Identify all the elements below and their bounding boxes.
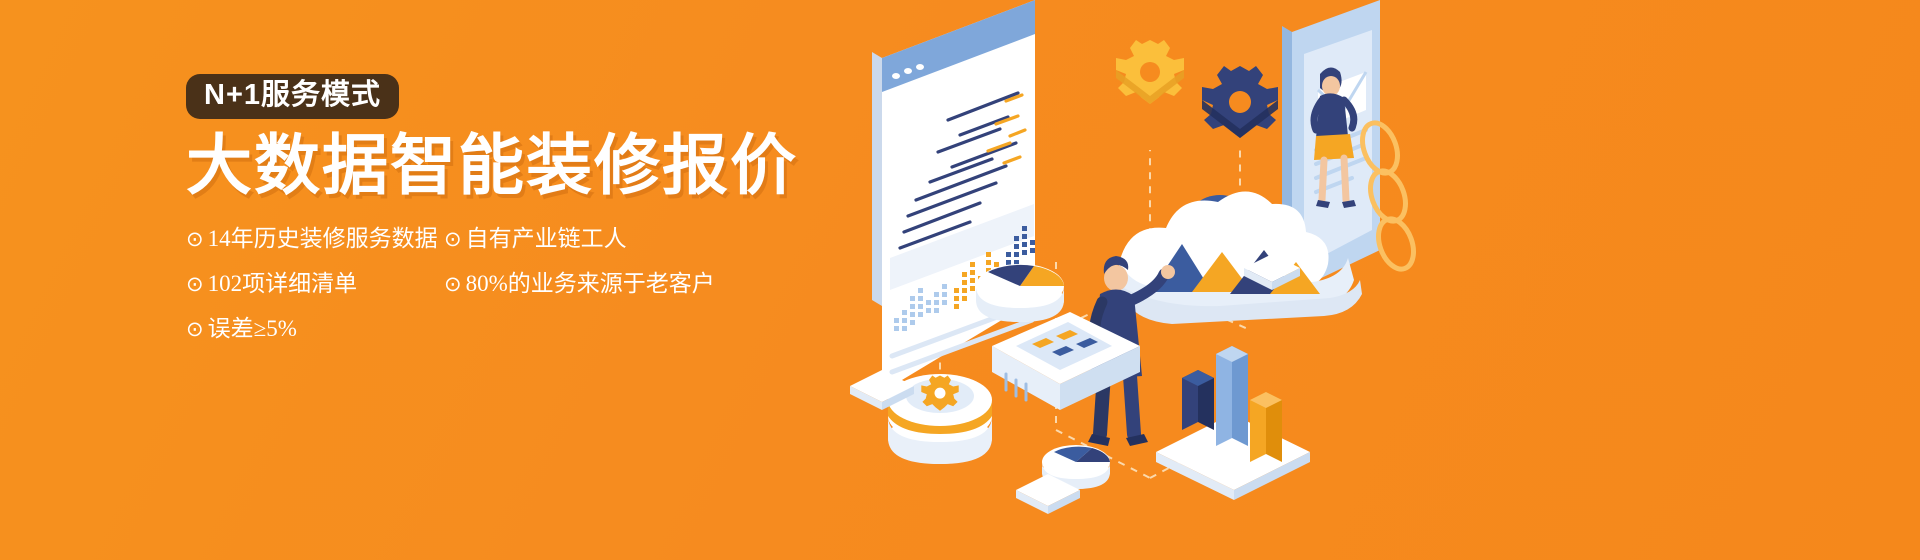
bullet-column-right: ⊙ 自有产业链工人 ⊙ 80%的业务来源于老客户 (444, 227, 744, 362)
bullet-column-left: ⊙ 14年历史装修服务数据 ⊙ 102项详细清单 ⊙ 误差≥5% (186, 227, 444, 362)
gear-orange-icon (1116, 40, 1184, 104)
banner-copy: N+1服务模式 大数据智能装修报价 ⊙ 14年历史装修服务数据 ⊙ 102项详细… (186, 74, 906, 362)
gear-dark-icon (1202, 66, 1278, 138)
bullet-item: ⊙ 102项详细清单 (186, 272, 444, 295)
bullet-marker-icon: ⊙ (186, 229, 204, 250)
isometric-illustration (820, 0, 1440, 560)
pie-disc (976, 264, 1064, 322)
bullet-label: 14年历史装修服务数据 (208, 227, 438, 250)
bullet-item: ⊙ 80%的业务来源于老客户 (444, 272, 744, 295)
browser-dashboard-window (872, 0, 1035, 392)
banner-headline: 大数据智能装修报价 (186, 131, 906, 201)
bar-chart-blocks (1156, 346, 1310, 500)
bullet-label: 102项详细清单 (208, 272, 358, 295)
bullet-label: 80%的业务来源于老客户 (466, 272, 715, 295)
service-model-badge: N+1服务模式 (186, 74, 399, 119)
bullet-item: ⊙ 误差≥5% (186, 317, 444, 340)
bullet-marker-icon: ⊙ (186, 319, 204, 340)
promo-banner: N+1服务模式 大数据智能装修报价 ⊙ 14年历史装修服务数据 ⊙ 102项详细… (0, 0, 1920, 560)
bullet-item: ⊙ 14年历史装修服务数据 (186, 227, 444, 250)
bullet-marker-icon: ⊙ (444, 229, 462, 250)
bullet-label: 自有产业链工人 (466, 227, 627, 250)
bullet-label: 误差≥5% (208, 317, 297, 340)
bullet-marker-icon: ⊙ (186, 274, 204, 295)
bullet-item: ⊙ 自有产业链工人 (444, 227, 744, 250)
feature-bullet-list: ⊙ 14年历史装修服务数据 ⊙ 102项详细清单 ⊙ 误差≥5% ⊙ 自有产业链… (186, 227, 906, 362)
bullet-marker-icon: ⊙ (444, 274, 462, 295)
